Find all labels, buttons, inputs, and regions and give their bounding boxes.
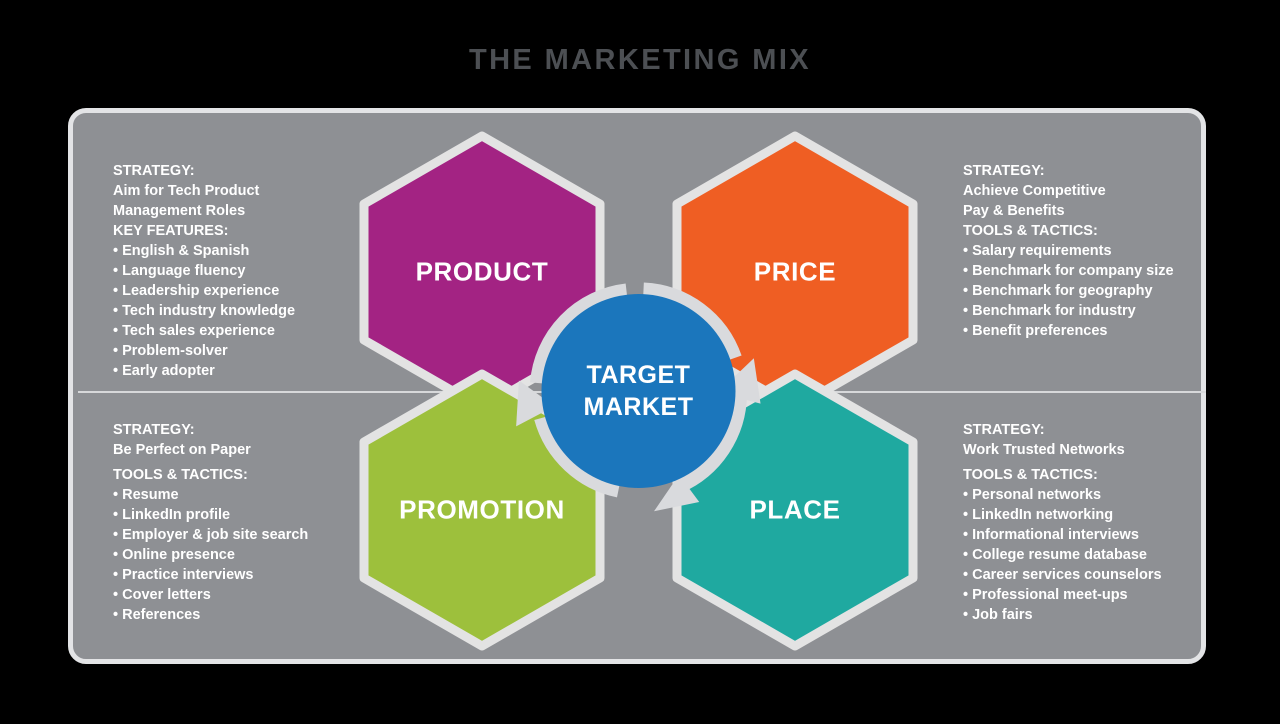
list-item: Employer & job site search <box>113 525 308 545</box>
list-item: Informational interviews <box>963 525 1162 545</box>
promotion-text-block: STRATEGY: Be Perfect on Paper TOOLS & TA… <box>113 420 308 625</box>
list-item: Online presence <box>113 545 308 565</box>
hexagon-product-shape <box>364 136 600 408</box>
price-list-heading: TOOLS & TACTICS: <box>963 221 1174 241</box>
target-market-line1: TARGET <box>587 361 691 389</box>
ring-arc-left <box>538 291 627 383</box>
horizontal-divider <box>78 391 1206 393</box>
list-item: Tech sales experience <box>113 321 295 341</box>
place-strategy-heading: STRATEGY: <box>963 420 1162 440</box>
circular-arrow-ring <box>514 290 769 516</box>
hexagon-product-label: PRODUCT <box>416 257 549 288</box>
ring-arc-right <box>679 394 740 486</box>
list-item: Practice interviews <box>113 565 308 585</box>
hexagon-place-shape <box>677 374 913 646</box>
marketing-mix-panel: STRATEGY: Aim for Tech Product Managemen… <box>68 108 1206 664</box>
list-item: LinkedIn profile <box>113 505 308 525</box>
place-strategy-line1: Work Trusted Networks <box>963 440 1162 460</box>
product-text-block: STRATEGY: Aim for Tech Product Managemen… <box>113 161 295 381</box>
list-item: Early adopter <box>113 361 295 381</box>
arrow-head-lower-left-icon <box>514 380 557 430</box>
promotion-list: Resume LinkedIn profile Employer & job s… <box>113 485 308 625</box>
list-item: Benchmark for company size <box>963 261 1174 281</box>
arrow-head-upper-right-icon <box>717 352 769 403</box>
list-item: Benchmark for industry <box>963 301 1174 321</box>
product-strategy-heading: STRATEGY: <box>113 161 295 181</box>
hexagon-place[interactable] <box>677 374 913 646</box>
list-item: Benefit preferences <box>963 321 1174 341</box>
list-item: Tech industry knowledge <box>113 301 295 321</box>
list-item: Professional meet-ups <box>963 585 1162 605</box>
list-item: English & Spanish <box>113 241 295 261</box>
hexagon-price-label: PRICE <box>754 257 836 288</box>
promotion-strategy-line1: Be Perfect on Paper <box>113 440 308 460</box>
hexagon-promotion-label: PROMOTION <box>399 495 565 526</box>
hexagon-promotion-shape <box>364 374 600 646</box>
product-list: English & Spanish Language fluency Leade… <box>113 241 295 381</box>
price-strategy-line1: Achieve Competitive <box>963 181 1174 201</box>
promotion-strategy-heading: STRATEGY: <box>113 420 308 440</box>
ring-arc-top <box>644 290 735 358</box>
hexagon-price-shape <box>677 136 913 408</box>
price-text-block: STRATEGY: Achieve Competitive Pay & Bene… <box>963 161 1174 341</box>
list-item: Personal networks <box>963 485 1162 505</box>
list-item: Language fluency <box>113 261 295 281</box>
list-item: LinkedIn networking <box>963 505 1162 525</box>
price-list: Salary requirements Benchmark for compan… <box>963 241 1174 341</box>
hexagon-price[interactable] <box>677 136 913 408</box>
ring-arc-bottom <box>542 418 619 490</box>
list-item: Job fairs <box>963 605 1162 625</box>
list-item: Benchmark for geography <box>963 281 1174 301</box>
arrow-head-lower-right-icon <box>654 472 702 515</box>
list-item: Problem-solver <box>113 341 295 361</box>
product-strategy-line1: Aim for Tech Product <box>113 181 295 201</box>
place-list-heading: TOOLS & TACTICS: <box>963 465 1162 485</box>
page-title: THE MARKETING MIX <box>0 42 1280 78</box>
list-item: Resume <box>113 485 308 505</box>
hexagon-promotion[interactable] <box>364 374 600 646</box>
hexagon-place-label: PLACE <box>749 495 840 526</box>
product-strategy-line2: Management Roles <box>113 201 295 221</box>
list-item: Career services counselors <box>963 565 1162 585</box>
promotion-list-heading: TOOLS & TACTICS: <box>113 465 308 485</box>
place-text-block: STRATEGY: Work Trusted Networks TOOLS & … <box>963 420 1162 625</box>
price-strategy-line2: Pay & Benefits <box>963 201 1174 221</box>
list-item: Salary requirements <box>963 241 1174 261</box>
list-item: References <box>113 605 308 625</box>
price-strategy-heading: STRATEGY: <box>963 161 1174 181</box>
list-item: College resume database <box>963 545 1162 565</box>
list-item: Cover letters <box>113 585 308 605</box>
hexagon-product[interactable] <box>364 136 600 408</box>
place-list: Personal networks LinkedIn networking In… <box>963 485 1162 625</box>
product-list-heading: KEY FEATURES: <box>113 221 295 241</box>
target-market-line2: MARKET <box>584 393 694 421</box>
list-item: Leadership experience <box>113 281 295 301</box>
